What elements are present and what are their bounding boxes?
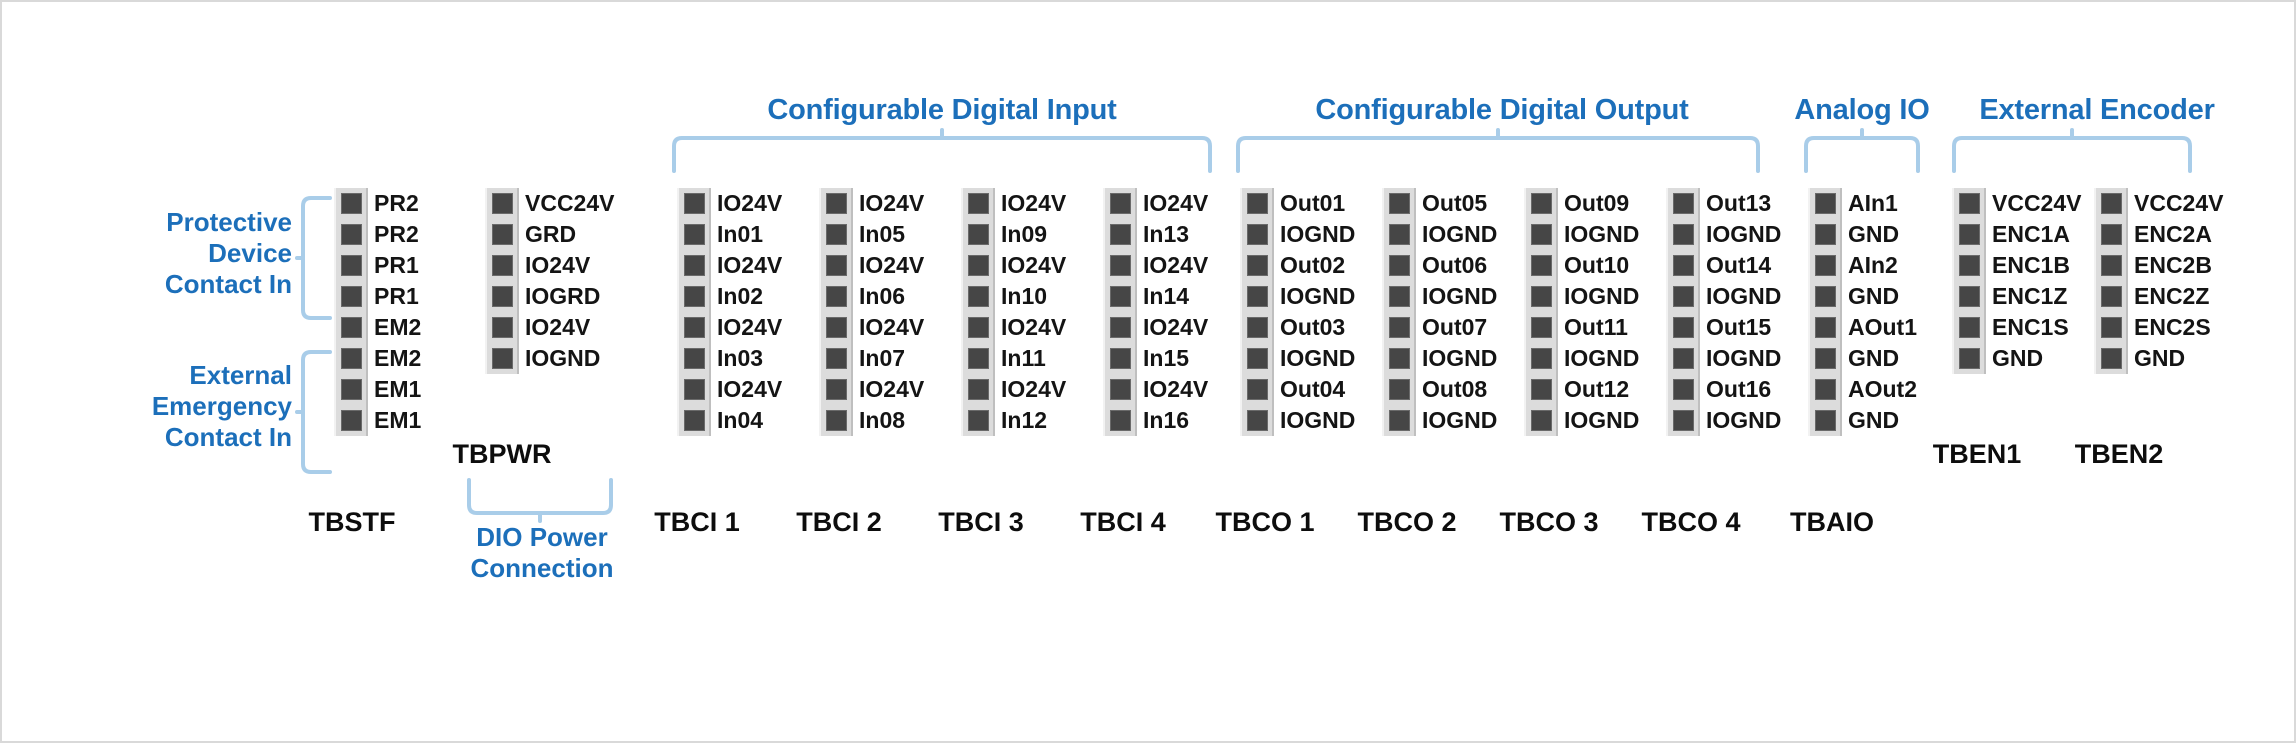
pin-label: In08 [859, 410, 924, 431]
pin-terminal [1110, 193, 1131, 214]
pin-label: EM2 [374, 317, 421, 338]
pin-label: AIn2 [1848, 255, 1917, 276]
pin-terminal [684, 255, 705, 276]
tbci4-pin-strip [1103, 188, 1137, 436]
pin-label: IO24V [1143, 193, 1208, 214]
pin-terminal [2101, 193, 2122, 214]
tbci3-pin-strip [961, 188, 995, 436]
pin-terminal [1815, 348, 1836, 369]
pin-label: VCC24V [2134, 193, 2223, 214]
pin-terminal [1673, 348, 1694, 369]
tbco1-pin-strip [1240, 188, 1274, 436]
dio-power-line1: DIO Power [452, 522, 632, 553]
group-header-external-encoder: External Encoder [1952, 94, 2242, 127]
tbci1-pin-strip [677, 188, 711, 436]
pin-label: In05 [859, 224, 924, 245]
pin-label: IOGND [1706, 286, 1781, 307]
pin-terminal [1531, 410, 1552, 431]
pin-label: ENC2B [2134, 255, 2223, 276]
pin-label: EM2 [374, 348, 421, 369]
pin-label: GND [1848, 410, 1917, 431]
pin-label: IO24V [1143, 379, 1208, 400]
pin-label: IOGND [1280, 348, 1355, 369]
pin-label: IOGND [1422, 348, 1497, 369]
pin-terminal [968, 410, 989, 431]
side-label-emergency-line1: External [22, 360, 292, 391]
pin-label: PR1 [374, 286, 421, 307]
pin-label: EM1 [374, 379, 421, 400]
pin-terminal [341, 410, 362, 431]
bracket-digital-output [1234, 130, 1762, 172]
pin-terminal [1815, 255, 1836, 276]
pin-terminal [1815, 193, 1836, 214]
pin-label: IOGND [1422, 410, 1497, 431]
pin-terminal [1673, 224, 1694, 245]
tbci3-pin-labels: IO24VIn09IO24VIn10IO24VIn11IO24VIn12 [1001, 188, 1066, 436]
bracket-external-emergency [297, 348, 331, 476]
pin-label: IO24V [1001, 193, 1066, 214]
pin-label: IOGND [1706, 410, 1781, 431]
pin-terminal [1110, 348, 1131, 369]
pin-label: VCC24V [1992, 193, 2081, 214]
side-label-protective-line2: Device [22, 238, 292, 269]
pin-terminal [1673, 286, 1694, 307]
pin-label: ENC1A [1992, 224, 2081, 245]
pin-label: In09 [1001, 224, 1066, 245]
pin-terminal [1389, 317, 1410, 338]
tbstf-pin-strip [334, 188, 368, 436]
pin-label: Out08 [1422, 379, 1497, 400]
pin-terminal [1389, 224, 1410, 245]
pin-label: VCC24V [525, 193, 614, 214]
side-label-emergency-line2: Emergency [22, 391, 292, 422]
pin-label: Out11 [1564, 317, 1639, 338]
pin-label: PR2 [374, 193, 421, 214]
side-label-protective-line3: Contact In [22, 269, 292, 300]
pin-terminal [1110, 379, 1131, 400]
pin-label: IOGND [1280, 410, 1355, 431]
pin-terminal [1531, 348, 1552, 369]
pin-label: IO24V [717, 379, 782, 400]
pin-terminal [684, 286, 705, 307]
bracket-external-encoder [1950, 130, 2194, 172]
pin-terminal [1815, 410, 1836, 431]
pin-terminal [1959, 317, 1980, 338]
pin-terminal [1531, 193, 1552, 214]
pin-terminal [1959, 255, 1980, 276]
pin-terminal [826, 348, 847, 369]
pin-terminal [684, 410, 705, 431]
pin-label: In01 [717, 224, 782, 245]
pin-terminal [968, 348, 989, 369]
pin-terminal [1959, 286, 1980, 307]
block-sub-dio-power-connection: DIO Power Connection [452, 522, 632, 584]
tbco4-pin-labels: Out13IOGNDOut14IOGNDOut15IOGNDOut16IOGND [1706, 188, 1781, 436]
pin-terminal [1815, 286, 1836, 307]
pin-label: PR2 [374, 224, 421, 245]
pin-terminal [2101, 224, 2122, 245]
pin-terminal [1247, 410, 1268, 431]
side-label-protective-line1: Protective [22, 207, 292, 238]
pin-label: IOGND [1422, 224, 1497, 245]
pin-terminal [1673, 255, 1694, 276]
pin-terminal [1110, 224, 1131, 245]
pin-terminal [1815, 379, 1836, 400]
pin-terminal [1110, 255, 1131, 276]
pin-label: EM1 [374, 410, 421, 431]
pin-terminal [341, 255, 362, 276]
pin-label: ENC2A [2134, 224, 2223, 245]
pin-terminal [826, 317, 847, 338]
pin-terminal [1110, 410, 1131, 431]
pin-label: ENC1S [1992, 317, 2081, 338]
pin-terminal [1389, 193, 1410, 214]
side-label-external-emergency: External Emergency Contact In [22, 360, 292, 453]
group-header-digital-output: Configurable Digital Output [1222, 94, 1782, 127]
pin-terminal [1531, 224, 1552, 245]
side-label-protective-device: Protective Device Contact In [22, 207, 292, 300]
pin-terminal [826, 255, 847, 276]
pin-terminal [492, 224, 513, 245]
tbci4-pin-labels: IO24VIn13IO24VIn14IO24VIn15IO24VIn16 [1143, 188, 1208, 436]
pin-terminal [968, 286, 989, 307]
pin-label: IO24V [859, 317, 924, 338]
pin-terminal [968, 224, 989, 245]
tbco3-pin-labels: Out09IOGNDOut10IOGNDOut11IOGNDOut12IOGND [1564, 188, 1639, 436]
pin-terminal [1110, 286, 1131, 307]
pin-terminal [1389, 348, 1410, 369]
pin-terminal [341, 348, 362, 369]
pin-terminal [826, 379, 847, 400]
pin-terminal [1531, 286, 1552, 307]
pin-label: GND [1992, 348, 2081, 369]
pin-terminal [1673, 317, 1694, 338]
pin-terminal [1110, 317, 1131, 338]
pin-label: IO24V [525, 255, 614, 276]
dio-power-line2: Connection [452, 553, 632, 584]
pin-terminal [2101, 317, 2122, 338]
tbaio-pin-labels: AIn1GNDAIn2GNDAOut1GNDAOut2GND [1848, 188, 1917, 436]
pin-terminal [2101, 255, 2122, 276]
pin-label: GRD [525, 224, 614, 245]
pin-label: IO24V [1001, 379, 1066, 400]
pin-label: GND [1848, 348, 1917, 369]
pin-terminal [1247, 193, 1268, 214]
pin-terminal [684, 379, 705, 400]
tbci1-pin-labels: IO24VIn01IO24VIn02IO24VIn03IO24VIn04 [717, 188, 782, 436]
pin-terminal [1673, 193, 1694, 214]
pin-label: IOGND [1564, 410, 1639, 431]
pin-label: GND [2134, 348, 2223, 369]
pin-label: ENC2Z [2134, 286, 2223, 307]
pin-terminal [1389, 286, 1410, 307]
pin-label: Out07 [1422, 317, 1497, 338]
pin-terminal [1531, 255, 1552, 276]
pin-label: In11 [1001, 348, 1066, 369]
pin-label: In12 [1001, 410, 1066, 431]
pin-terminal [1247, 379, 1268, 400]
tbpwr-pin-labels: VCC24VGRDIO24VIOGRDIO24VIOGND [525, 188, 614, 374]
tbstf-pin-labels: PR2PR2PR1PR1EM2EM2EM1EM1 [374, 188, 421, 436]
tben2-pin-labels: VCC24VENC2AENC2BENC2ZENC2SGND [2134, 188, 2223, 374]
pin-terminal [1815, 317, 1836, 338]
pin-terminal [1247, 224, 1268, 245]
pin-terminal [684, 193, 705, 214]
pin-label: GND [1848, 224, 1917, 245]
pin-terminal [1247, 286, 1268, 307]
pin-label: IOGND [1564, 348, 1639, 369]
pin-label: Out15 [1706, 317, 1781, 338]
tbco2-pin-strip [1382, 188, 1416, 436]
pin-label: Out04 [1280, 379, 1355, 400]
pin-label: In06 [859, 286, 924, 307]
pin-terminal [2101, 348, 2122, 369]
pin-terminal [1389, 255, 1410, 276]
pin-label: IO24V [859, 193, 924, 214]
pin-label: IOGND [1706, 348, 1781, 369]
pin-label: IOGND [1706, 224, 1781, 245]
tbpwr-pin-strip [485, 188, 519, 374]
pin-terminal [1531, 317, 1552, 338]
pin-label: IO24V [1143, 317, 1208, 338]
group-header-analog-io: Analog IO [1772, 94, 1952, 127]
pin-label: IO24V [717, 317, 782, 338]
pin-label: In02 [717, 286, 782, 307]
pin-label: IOGND [1564, 224, 1639, 245]
pin-label: Out03 [1280, 317, 1355, 338]
pin-terminal [341, 317, 362, 338]
pin-terminal [492, 193, 513, 214]
tben1-pin-labels: VCC24VENC1AENC1BENC1ZENC1SGND [1992, 188, 2081, 374]
pin-terminal [968, 379, 989, 400]
pin-label: In15 [1143, 348, 1208, 369]
pin-terminal [1389, 379, 1410, 400]
pin-terminal [1247, 348, 1268, 369]
pin-terminal [1673, 379, 1694, 400]
pin-terminal [1247, 317, 1268, 338]
block-name-tbaio: TBAIO [1747, 507, 1917, 538]
pin-terminal [1959, 348, 1980, 369]
pin-label: In13 [1143, 224, 1208, 245]
pin-label: Out13 [1706, 193, 1781, 214]
pin-terminal [826, 410, 847, 431]
tben1-pin-strip [1952, 188, 1986, 374]
pin-label: IO24V [1001, 317, 1066, 338]
pin-terminal [341, 224, 362, 245]
pin-terminal [492, 255, 513, 276]
diagram-canvas: Configurable Digital Input Configurable … [0, 0, 2296, 743]
pin-label: In07 [859, 348, 924, 369]
pin-label: AOut1 [1848, 317, 1917, 338]
group-header-digital-input: Configurable Digital Input [662, 94, 1222, 127]
tbco1-pin-labels: Out01IOGNDOut02IOGNDOut03IOGNDOut04IOGND [1280, 188, 1355, 436]
tbaio-pin-strip [1808, 188, 1842, 436]
pin-label: IO24V [859, 255, 924, 276]
pin-label: IOGND [1422, 286, 1497, 307]
pin-terminal [1531, 379, 1552, 400]
pin-label: IO24V [859, 379, 924, 400]
pin-terminal [341, 379, 362, 400]
bracket-digital-input [670, 130, 1214, 172]
pin-terminal [968, 255, 989, 276]
tben2-pin-strip [2094, 188, 2128, 374]
block-name-tben2: TBEN2 [2029, 439, 2209, 470]
pin-terminal [2101, 286, 2122, 307]
pin-terminal [826, 224, 847, 245]
pin-label: In10 [1001, 286, 1066, 307]
pin-label: Out14 [1706, 255, 1781, 276]
pin-label: IO24V [717, 255, 782, 276]
bracket-analog-io [1802, 130, 1922, 172]
pin-terminal [1815, 224, 1836, 245]
pin-terminal [492, 348, 513, 369]
pin-label: IO24V [717, 193, 782, 214]
pin-label: IOGRD [525, 286, 614, 307]
pin-label: Out05 [1422, 193, 1497, 214]
tbci2-pin-labels: IO24VIn05IO24VIn06IO24VIn07IO24VIn08 [859, 188, 924, 436]
pin-terminal [492, 286, 513, 307]
tbco4-pin-strip [1666, 188, 1700, 436]
pin-label: In04 [717, 410, 782, 431]
block-name-tbstf: TBSTF [272, 507, 432, 538]
pin-label: AOut2 [1848, 379, 1917, 400]
pin-terminal [1959, 193, 1980, 214]
pin-label: Out10 [1564, 255, 1639, 276]
bracket-protective-device [297, 194, 331, 322]
pin-label: Out12 [1564, 379, 1639, 400]
tbci2-pin-strip [819, 188, 853, 436]
pin-label: Out01 [1280, 193, 1355, 214]
pin-label: IOGND [1564, 286, 1639, 307]
pin-terminal [1247, 255, 1268, 276]
pin-label: IOGND [1280, 224, 1355, 245]
pin-terminal [1389, 410, 1410, 431]
pin-terminal [1959, 224, 1980, 245]
pin-terminal [492, 317, 513, 338]
pin-terminal [684, 317, 705, 338]
pin-terminal [341, 286, 362, 307]
pin-label: Out16 [1706, 379, 1781, 400]
pin-terminal [684, 348, 705, 369]
pin-label: PR1 [374, 255, 421, 276]
pin-label: In16 [1143, 410, 1208, 431]
block-name-tbpwr: TBPWR [412, 439, 592, 470]
pin-label: ENC1Z [1992, 286, 2081, 307]
pin-label: ENC1B [1992, 255, 2081, 276]
side-label-emergency-line3: Contact In [22, 422, 292, 453]
tbco3-pin-strip [1524, 188, 1558, 436]
pin-label: AIn1 [1848, 193, 1917, 214]
pin-label: IO24V [1143, 255, 1208, 276]
pin-terminal [968, 193, 989, 214]
pin-terminal [968, 317, 989, 338]
pin-label: IO24V [1001, 255, 1066, 276]
pin-label: IOGND [1280, 286, 1355, 307]
pin-label: Out02 [1280, 255, 1355, 276]
pin-label: GND [1848, 286, 1917, 307]
pin-terminal [1673, 410, 1694, 431]
pin-label: In03 [717, 348, 782, 369]
tbco2-pin-labels: Out05IOGNDOut06IOGNDOut07IOGNDOut08IOGND [1422, 188, 1497, 436]
pin-label: Out06 [1422, 255, 1497, 276]
pin-label: IOGND [525, 348, 614, 369]
pin-terminal [341, 193, 362, 214]
pin-label: IO24V [525, 317, 614, 338]
pin-terminal [826, 193, 847, 214]
pin-label: Out09 [1564, 193, 1639, 214]
pin-label: ENC2S [2134, 317, 2223, 338]
pin-label: In14 [1143, 286, 1208, 307]
bracket-dio-power-connection [465, 480, 615, 522]
pin-terminal [826, 286, 847, 307]
pin-terminal [684, 224, 705, 245]
